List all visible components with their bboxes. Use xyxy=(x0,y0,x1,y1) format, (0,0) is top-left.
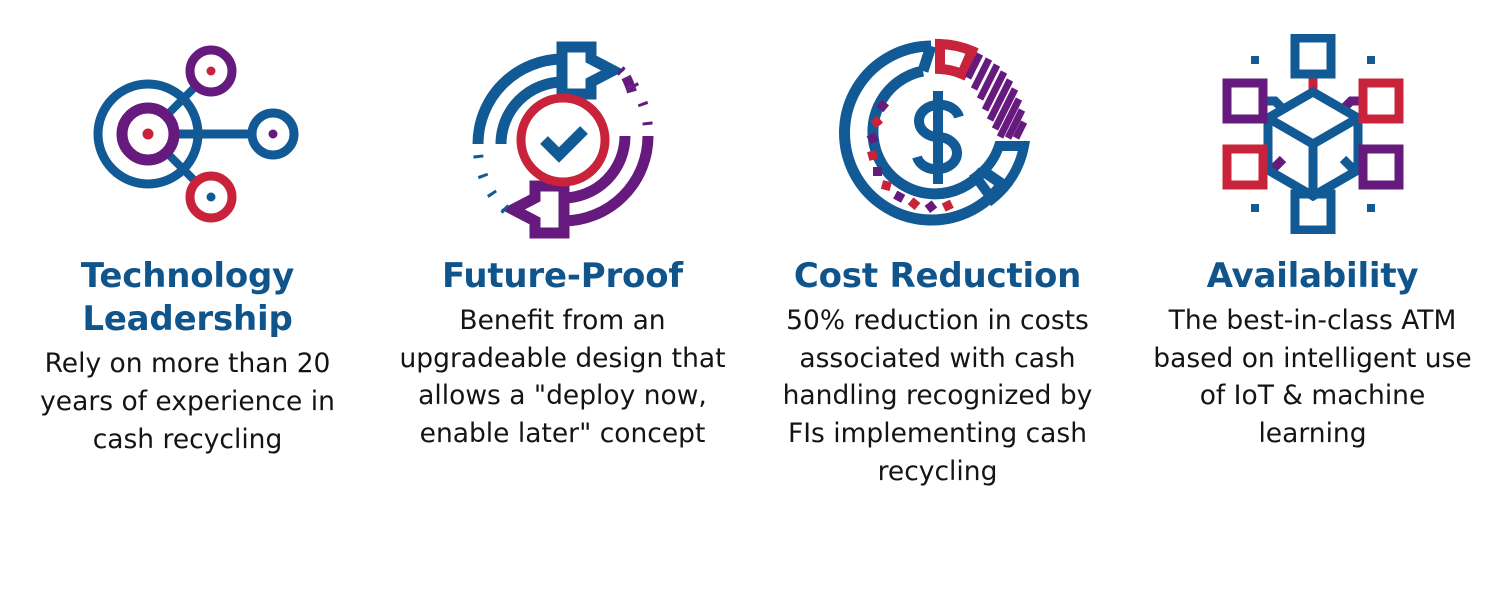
feature-card-technology-leadership: Technology Leadership Rely on more than … xyxy=(0,0,375,490)
features-grid: Technology Leadership Rely on more than … xyxy=(0,0,1500,490)
feature-description: Rely on more than 20 years of experience… xyxy=(38,345,338,458)
cube-network-icon xyxy=(1213,0,1413,255)
feature-title: Availability xyxy=(1207,255,1419,298)
feature-card-cost-reduction: Cost Reduction 50% reduction in costs as… xyxy=(750,0,1125,490)
feature-title: Technology Leadership xyxy=(10,255,365,341)
dollar-coin-chart-icon xyxy=(828,0,1048,255)
feature-description: The best-in-class ATM based on intellige… xyxy=(1153,302,1473,453)
feature-card-availability: Availability The best-in-class ATM based… xyxy=(1125,0,1500,490)
network-nodes-icon xyxy=(68,0,308,255)
feature-description: Benefit from an upgradeable design that … xyxy=(398,302,728,453)
feature-card-future-proof: Future-Proof Benefit from an upgradeable… xyxy=(375,0,750,490)
feature-description: 50% reduction in costs associated with c… xyxy=(778,302,1098,490)
circular-arrows-checkmark-icon xyxy=(458,0,668,255)
feature-title: Cost Reduction xyxy=(794,255,1081,298)
feature-title: Future-Proof xyxy=(442,255,683,298)
